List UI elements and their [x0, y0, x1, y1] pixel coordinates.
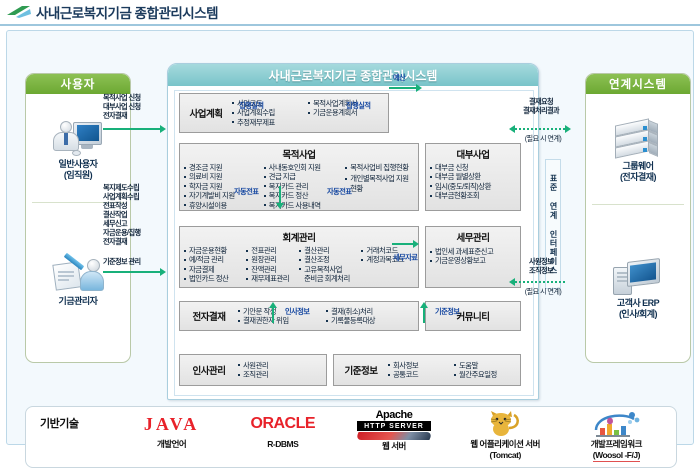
actor-label: 그룹웨어 (전자결재) — [586, 161, 690, 183]
divider — [592, 204, 684, 205]
flow-label-standard-info-mgmt: 기준정보 관리 — [103, 257, 140, 266]
actor-label: 고객사 ERP (인사/회계) — [586, 298, 690, 320]
linked-systems-header: 연계시스템 — [586, 74, 690, 94]
module-title: 전자결재 — [180, 309, 238, 323]
arrow-user-to-system — [103, 128, 161, 130]
flow-label-manager-tasks: 복지제도수립 사업계획수립 전표작성 결산작업 세무신고 자금운용/집행 전자결… — [103, 183, 140, 246]
erp-computer-icon — [613, 259, 663, 297]
tech-caption: 개발언어 — [117, 439, 227, 450]
oracle-logo: ORACLE — [228, 411, 338, 437]
java-logo: JAVA — [117, 411, 227, 437]
actor-label: 일반사용자 (임직원) — [26, 159, 130, 181]
module-items: 결재(취소)처리 기록물등록대상 — [326, 307, 406, 326]
arrow-manager-to-system — [103, 271, 161, 273]
page-title: 사내근로복지기금 종합관리시스템 — [36, 2, 218, 22]
linked-systems-panel: 연계시스템 그룹웨어 (전자결재) — [585, 73, 691, 363]
tech-item-apache: Apache HTTP SERVER 웹 서버 — [339, 411, 449, 452]
main-panel-body: 사업계획 사업코드 사업계획수립 추정재무제표 목적사업계획서 기금운용계획서 … — [174, 90, 534, 396]
arrow-groupware-bidirectional — [515, 128, 565, 130]
arrow-erp-to-system — [515, 281, 565, 283]
tech-caption: R-DBMS — [228, 439, 338, 450]
module-items: 도움말 월간주요일정 — [454, 361, 516, 380]
desktop-user-icon — [52, 120, 104, 158]
module-items: 전표관리 원장관리 잔액관리 재무제표관리 — [246, 246, 295, 284]
connector-label-exec-result-left: 집행실적 — [239, 101, 263, 111]
main-panel-title: 사내근로복지기금 종합관리시스템 — [168, 64, 538, 86]
actor-label: 기금관리자 — [26, 296, 130, 307]
module-items: 대부금 신청 대부금 월별상환 임시(중도/퇴직)상환 대부금현황조회 — [430, 163, 516, 201]
module-items: 목적사업비 집행현황 개인별목적사업 지원현황 — [345, 163, 414, 210]
tech-item-java: JAVA 개발언어 — [117, 411, 227, 450]
connector-label-standard-info: 기준정보 — [435, 307, 459, 317]
arrow-tax-data — [392, 243, 414, 245]
module-items: 사원관리 조직관리 — [238, 361, 268, 380]
diagram-canvas: 사용자 일반사용자 (임직원) — [6, 30, 694, 445]
flow-label-approval-exchange: 결재요청 결재처리결과 — [507, 97, 575, 115]
actor-groupware[interactable]: 그룹웨어 (전자결재) — [586, 98, 690, 186]
module-loan-business[interactable]: 대부사업 대부금 신청 대부금 월별상환 임시(중도/퇴직)상환 대부금현황조회 — [425, 143, 521, 211]
arrow-standard-info — [423, 307, 425, 323]
module-business-plan[interactable]: 사업계획 사업코드 사업계획수립 추정재무제표 목적사업계획서 기금운용계획서 — [179, 93, 389, 133]
connector-label-tax-data: 세무자료 — [393, 253, 417, 263]
module-title: 기준정보 — [334, 363, 388, 377]
module-title: 사업계획 — [180, 106, 232, 120]
module-items: 자금운용현황 예/적금 관리 자금결제 법인카드 정산 — [184, 246, 242, 284]
flow-label-user-requests: 목적사업 신청 대부사업 신청 전자결재 — [103, 93, 140, 120]
connector-label-budget: 예산 — [393, 73, 405, 83]
server-stack-icon — [615, 120, 661, 160]
module-title: 대부사업 — [430, 147, 516, 161]
module-purpose-business[interactable]: 목적사업 경조금 지원 의료비 지원 학자금 지원 자기계발비 지원 휴양시설이… — [179, 143, 419, 211]
user-panel-header: 사용자 — [26, 74, 130, 94]
module-title: 목적사업 — [184, 147, 414, 161]
module-items: 결산관리 결산조정 고유목적사업 준비금 회계처리 — [299, 246, 357, 284]
arrow-budget — [389, 87, 417, 89]
module-items: 법인세 과세표준신고 기금운영상황보고 — [430, 247, 516, 266]
connector-label-exec-result-right: 집행실적 — [346, 101, 370, 111]
module-title: 인사관리 — [180, 363, 238, 377]
tomcat-cat-icon — [450, 411, 560, 437]
flow-label-employee-org-info: 사원정보 조직정보 — [507, 257, 575, 275]
actor-customer-erp[interactable]: 고객사 ERP (인사/회계) — [586, 209, 690, 323]
module-title: 커뮤니티 — [457, 309, 490, 323]
note-link-if-needed-groupware: (필요 시 연계) — [509, 134, 577, 143]
connector-label-auto-slip-right: 자동전표 — [327, 187, 351, 197]
module-title: 회계관리 — [184, 230, 414, 244]
tech-item-oracle: ORACLE R-DBMS — [228, 411, 338, 450]
module-items: 회사정보 공통코드 — [388, 361, 446, 380]
connector-label-hr-info: 인사정보 — [285, 307, 309, 317]
module-hr[interactable]: 인사관리 사원관리 조직관리 — [179, 354, 327, 386]
arrow-swoosh-logo — [6, 5, 32, 19]
apache-logo: Apache HTTP SERVER — [339, 411, 449, 437]
framework-icon — [561, 411, 671, 437]
arrow-auto-slip-left — [279, 186, 281, 204]
tech-item-framework: 개발프레임워크 (Woosol -F/J) — [561, 411, 671, 462]
tech-strip-title: 기반기술 — [40, 415, 78, 431]
tech-item-tomcat: 웹 어플리케이션 서버 (Tomcat) — [450, 411, 560, 461]
manager-document-icon — [52, 257, 104, 295]
app-header: 사내근로복지기금 종합관리시스템 — [0, 0, 700, 26]
arrow-hr-info — [272, 307, 274, 323]
module-accounting[interactable]: 회계관리 자금운용현황 예/적금 관리 자금결제 법인카드 정산 전표관리 원장… — [179, 226, 419, 288]
note-link-if-needed-erp: (필요 시 연계) — [509, 287, 577, 296]
module-title: 세무관리 — [430, 230, 516, 244]
apache-feather-icon — [355, 432, 432, 440]
tech-caption: 웹 서버 — [339, 441, 449, 452]
module-items: 거래처코드 계정과목코드 — [361, 246, 414, 284]
base-technology-strip: 기반기술 JAVA 개발언어 ORACLE R-DBMS Apache HTTP — [25, 406, 677, 468]
main-system-panel: 사내근로복지기금 종합관리시스템 사업계획 사업코드 사업계획수립 추정재무제표… — [167, 63, 539, 400]
connector-label-auto-slip-left: 자동전표 — [234, 187, 258, 197]
module-standard-info[interactable]: 기준정보 회사정보 공통코드 도움말 월간주요일정 — [333, 354, 521, 386]
tech-caption: 웹 어플리케이션 서버 (Tomcat) — [450, 439, 560, 461]
